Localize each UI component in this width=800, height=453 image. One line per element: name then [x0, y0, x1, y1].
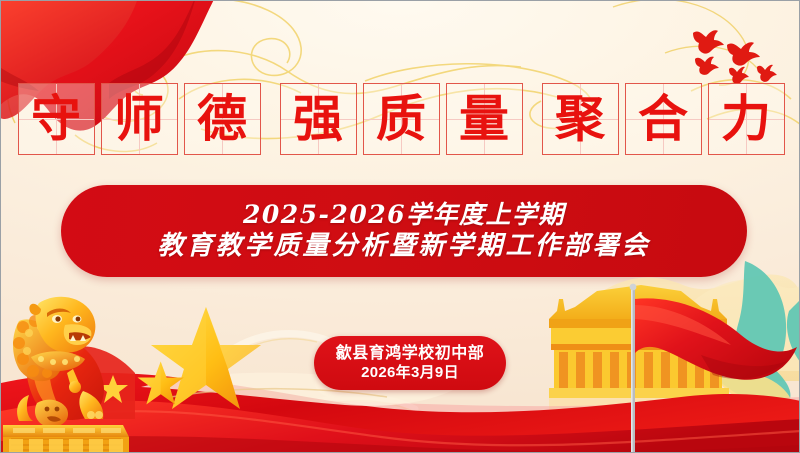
flying-doves	[669, 19, 789, 89]
title-char: 德	[185, 84, 260, 154]
title-char-cell: 力	[708, 83, 785, 155]
banner-line-1: 2025-2026学年度上学期	[243, 201, 565, 229]
title-char: 聚	[543, 84, 618, 154]
title-char: 质	[364, 84, 439, 154]
title-char: 合	[626, 84, 701, 154]
title-char-cell: 聚	[542, 83, 619, 155]
title-char-cell: 德	[184, 83, 261, 155]
title-group-1: 守 师 德	[18, 83, 261, 155]
title-char-cell: 量	[446, 83, 523, 155]
title-char: 师	[102, 84, 177, 154]
info-badge: 歙县育鸿学校初中部 2026年3月9日	[314, 336, 506, 390]
title-group-2: 强 质 量	[280, 83, 523, 155]
organization-name: 歙县育鸿学校初中部	[336, 344, 485, 364]
title-char-cell: 守	[18, 83, 95, 155]
title-char: 量	[447, 84, 522, 154]
title-char-cell: 师	[101, 83, 178, 155]
title-group-3: 聚 合 力	[542, 83, 785, 155]
title-char-cell: 质	[363, 83, 440, 155]
event-date: 2026年3月9日	[361, 364, 459, 383]
gold-stars	[121, 301, 311, 411]
title-char-cell: 合	[625, 83, 702, 155]
title-char: 强	[281, 84, 356, 154]
poster-title: 守 师 德 强 质 量 聚 合 力	[1, 83, 800, 155]
title-char: 力	[709, 84, 784, 154]
poster-canvas: 守 师 德 强 质 量 聚 合 力 2025-2026学年度上学期 教育教学质量…	[0, 0, 800, 453]
title-char: 守	[19, 84, 94, 154]
title-char-cell: 强	[280, 83, 357, 155]
guardian-lion-statue	[3, 269, 135, 453]
